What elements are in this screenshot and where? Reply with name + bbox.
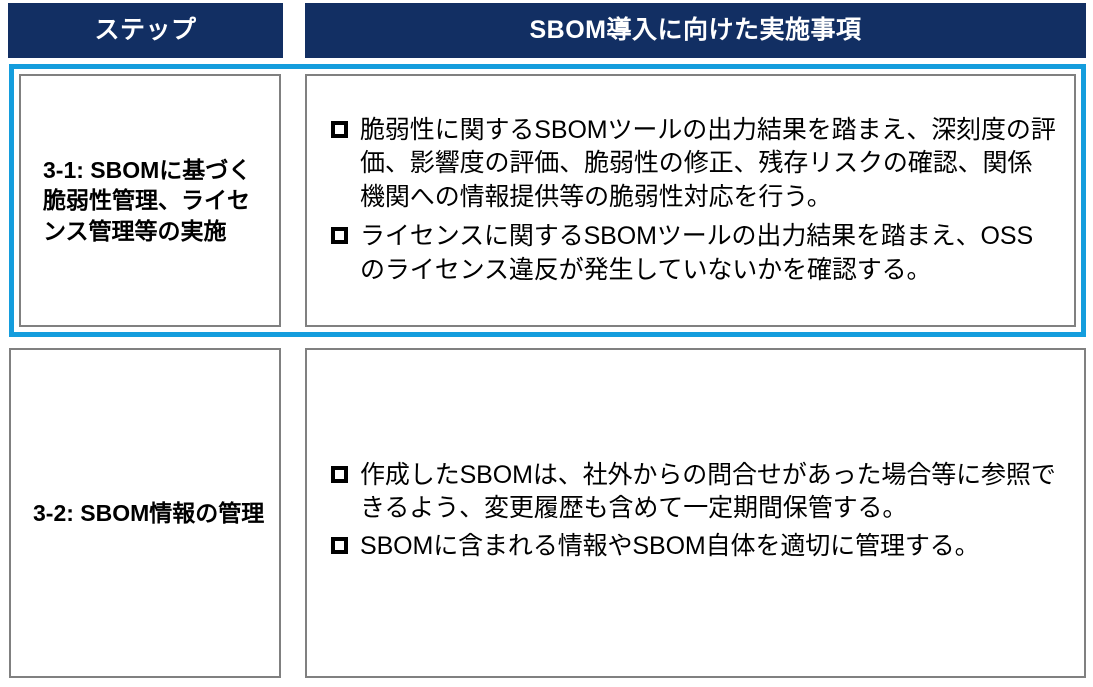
list-item-text: 脆弱性に関するSBOMツールの出力結果を踏まえ、深刻度の評価、影響度の評価、脆弱…	[360, 114, 1056, 215]
hollow-square-bullet-icon	[331, 466, 348, 483]
list-item-text: ライセンスに関するSBOMツールの出力結果を踏まえ、OSSのライセンス違反が発生…	[360, 220, 1056, 287]
list-item: ライセンスに関するSBOMツールの出力結果を踏まえ、OSSのライセンス違反が発生…	[331, 220, 1056, 287]
step-cell-3-2: 3-2: SBOM情報の管理	[11, 350, 279, 676]
detail-content-3-1: 脆弱性に関するSBOMツールの出力結果を踏まえ、深刻度の評価、影響度の評価、脆弱…	[307, 76, 1074, 325]
column-header-detail-label: SBOM導入に向けた実施事項	[529, 18, 861, 43]
detail-content-3-2: 作成したSBOMは、社外からの問合せがあった場合等に参照できるよう、変更履歴も含…	[307, 350, 1084, 676]
list-item-text: SBOMに含まれる情報やSBOM自体を適切に管理する。	[360, 530, 1066, 564]
step-label-3-1: 3-1: SBOMに基づく脆弱性管理、ライセンス管理等の実施	[43, 155, 265, 247]
list-item: SBOMに含まれる情報やSBOM自体を適切に管理する。	[331, 530, 1066, 564]
table-row: 3-1: SBOMに基づく脆弱性管理、ライセンス管理等の実施	[19, 74, 281, 327]
step-label-3-2: 3-2: SBOM情報の管理	[33, 498, 264, 529]
detail-cell-3-1: 脆弱性に関するSBOMツールの出力結果を踏まえ、深刻度の評価、影響度の評価、脆弱…	[305, 74, 1076, 327]
sbom-steps-table: ステップ SBOM導入に向けた実施事項 3-1: SBOMに基づく脆弱性管理、ラ…	[0, 0, 1093, 687]
detail-cell-3-2: 作成したSBOMは、社外からの問合せがあった場合等に参照できるよう、変更履歴も含…	[305, 348, 1086, 678]
hollow-square-bullet-icon	[331, 121, 348, 138]
table-header-row: ステップ SBOM導入に向けた実施事項	[0, 0, 1093, 59]
list-item: 作成したSBOMは、社外からの問合せがあった場合等に参照できるよう、変更履歴も含…	[331, 459, 1066, 526]
column-header-step-label: ステップ	[94, 18, 196, 43]
column-header-step: ステップ	[8, 3, 283, 58]
bullet-list-3-1: 脆弱性に関するSBOMツールの出力結果を踏まえ、深刻度の評価、影響度の評価、脆弱…	[331, 114, 1056, 288]
list-item: 脆弱性に関するSBOMツールの出力結果を踏まえ、深刻度の評価、影響度の評価、脆弱…	[331, 114, 1056, 215]
hollow-square-bullet-icon	[331, 537, 348, 554]
table-row: 3-2: SBOM情報の管理	[9, 348, 281, 678]
hollow-square-bullet-icon	[331, 227, 348, 244]
step-cell-3-1: 3-1: SBOMに基づく脆弱性管理、ライセンス管理等の実施	[21, 76, 279, 325]
bullet-list-3-2: 作成したSBOMは、社外からの問合せがあった場合等に参照できるよう、変更履歴も含…	[331, 459, 1066, 568]
column-header-detail: SBOM導入に向けた実施事項	[305, 3, 1086, 58]
list-item-text: 作成したSBOMは、社外からの問合せがあった場合等に参照できるよう、変更履歴も含…	[360, 459, 1066, 526]
